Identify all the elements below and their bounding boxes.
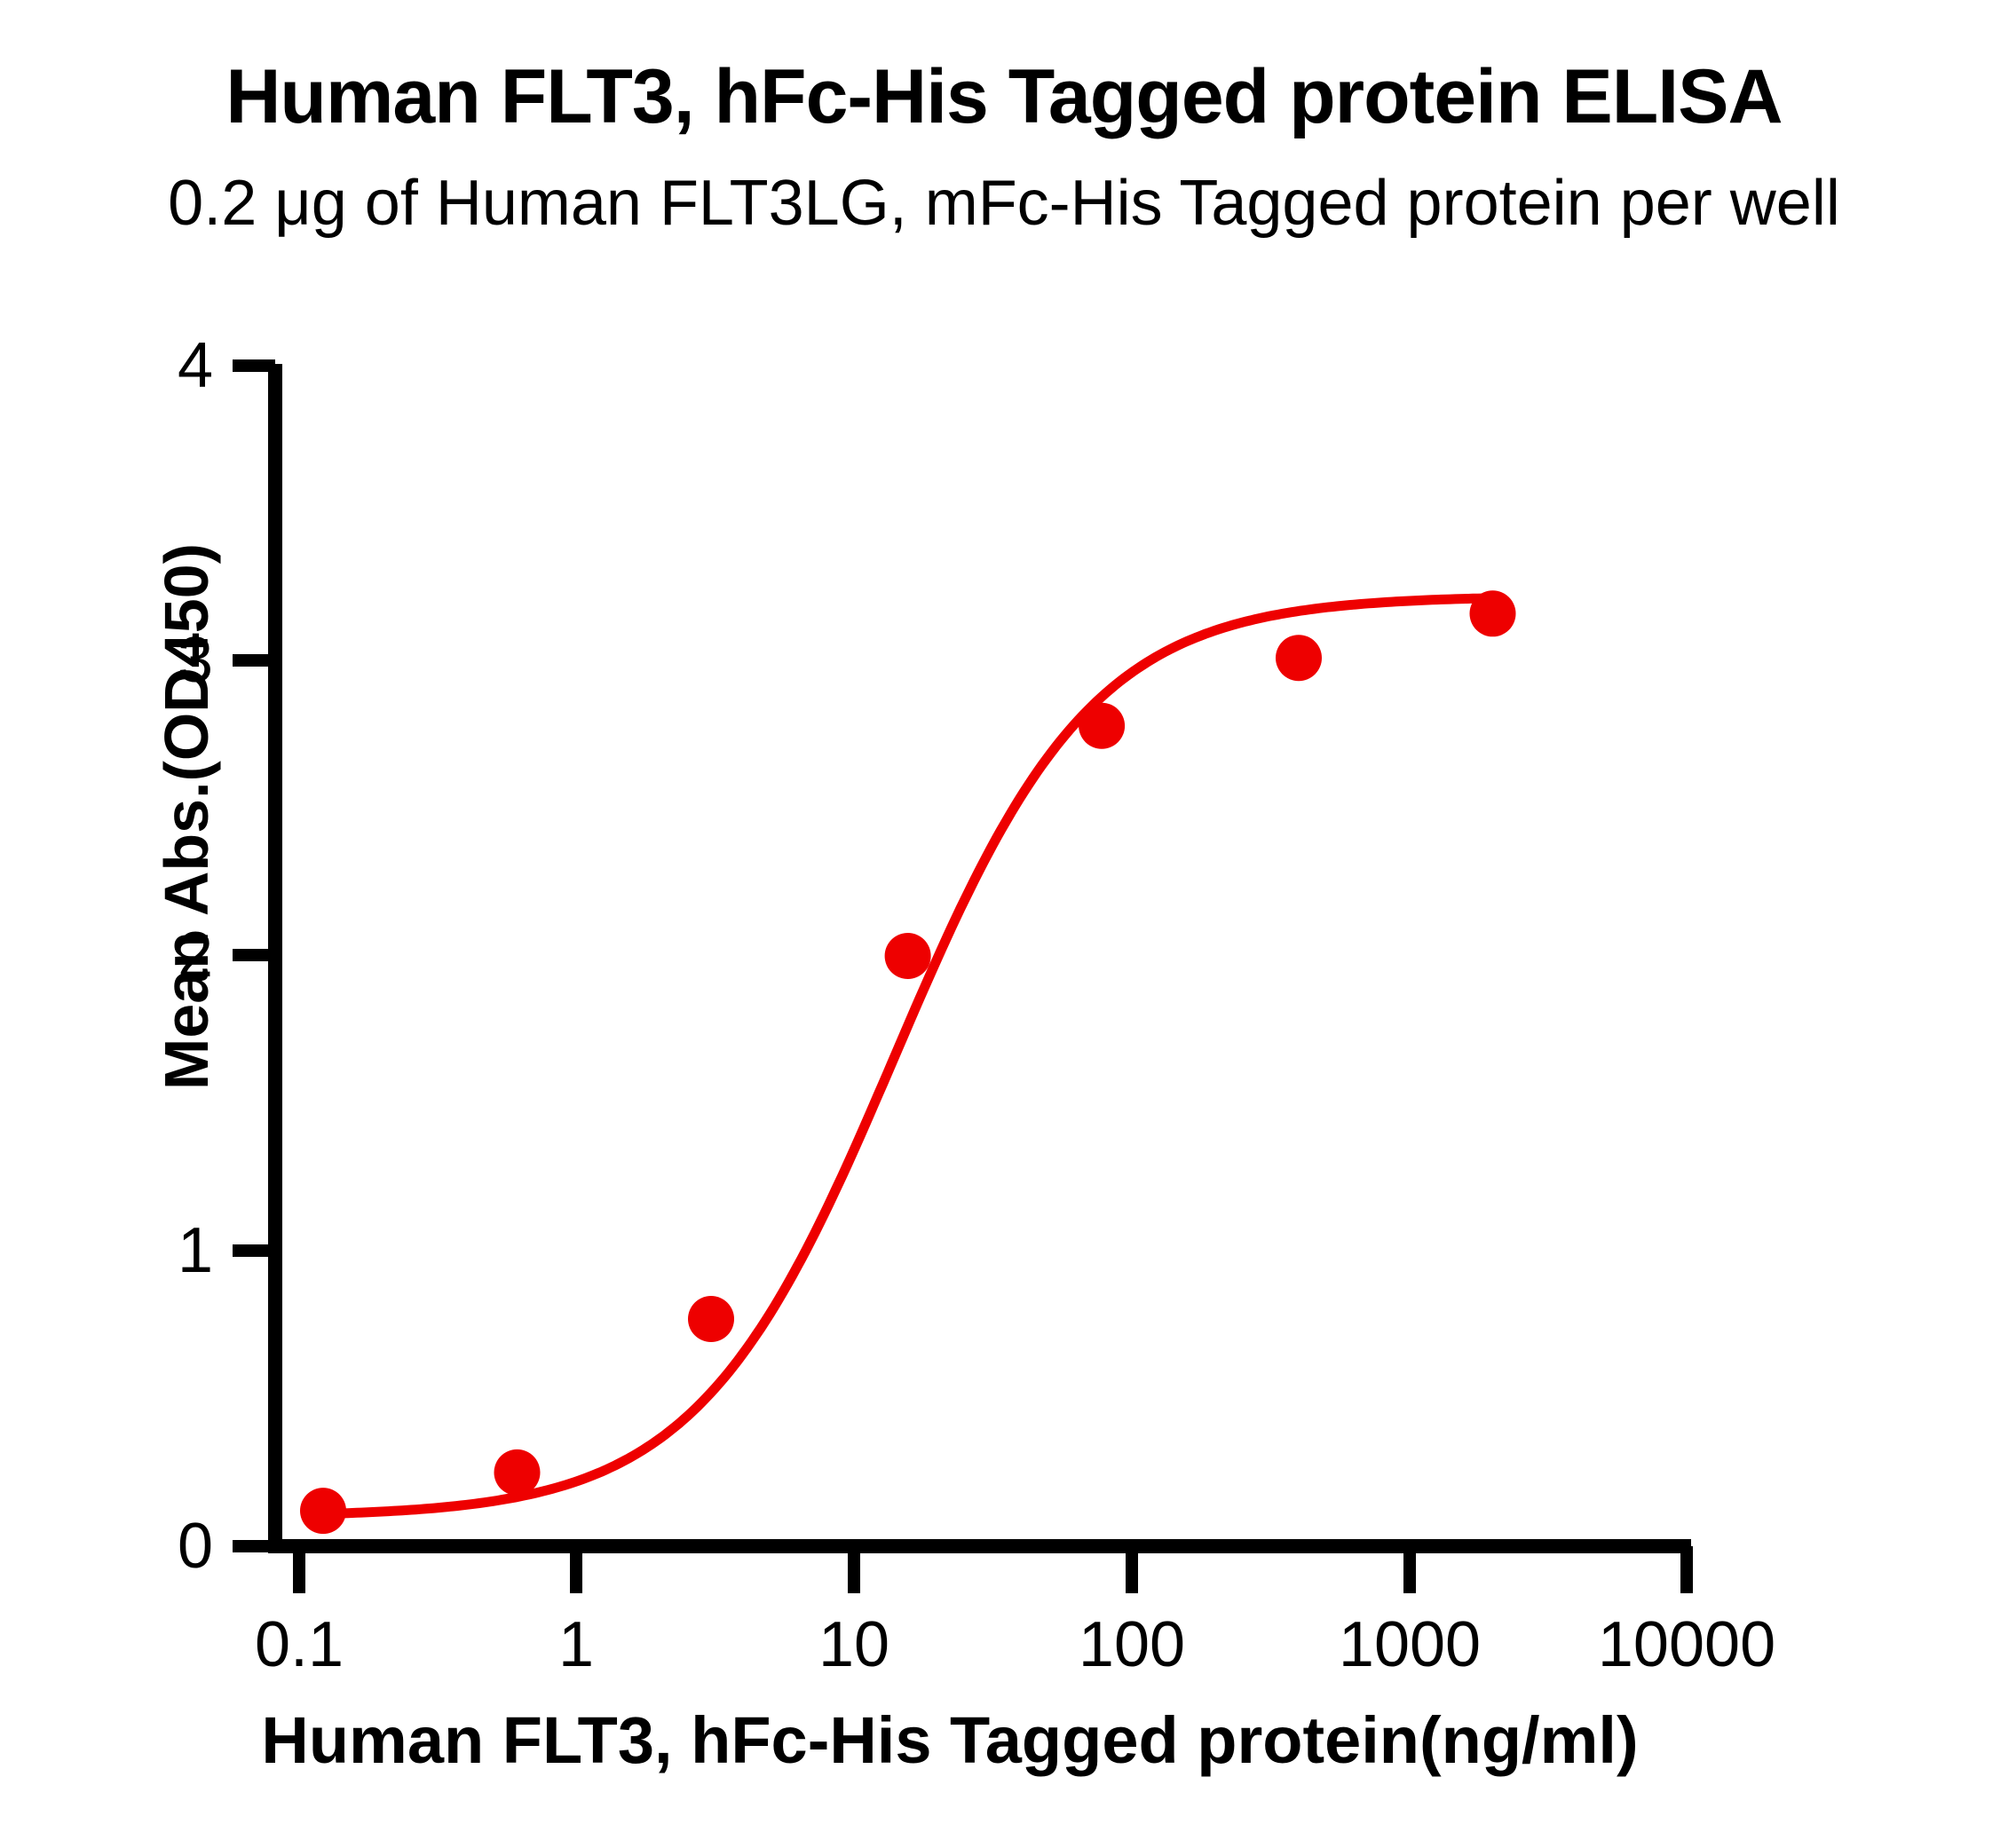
y-tick-label-3: 3 xyxy=(107,624,213,697)
data-point xyxy=(300,1488,346,1534)
y-tick-label-4: 4 xyxy=(107,329,213,402)
data-point-group xyxy=(300,590,1516,1534)
x-tick-label-5: 10000 xyxy=(1598,1608,1775,1681)
chart-page: Human FLT3, hFc-His Tagged protein ELISA… xyxy=(0,0,2008,1848)
x-tick-label-1: 1 xyxy=(558,1608,594,1681)
x-tick-label-4: 1000 xyxy=(1339,1608,1481,1681)
x-tick-label-3: 100 xyxy=(1079,1608,1185,1681)
fit-curve xyxy=(316,598,1496,1514)
data-point xyxy=(688,1296,734,1342)
x-tick-label-2: 10 xyxy=(818,1608,889,1681)
y-tick-label-0: 0 xyxy=(107,1510,213,1583)
data-point xyxy=(885,933,931,979)
data-point xyxy=(1470,590,1516,636)
y-tick-label-2: 2 xyxy=(107,919,213,991)
data-point xyxy=(494,1449,541,1496)
data-point xyxy=(1276,635,1322,681)
y-tick-label-1: 1 xyxy=(107,1214,213,1287)
data-point xyxy=(1079,703,1125,749)
x-tick-label-0: 0.1 xyxy=(255,1608,344,1681)
y-axis-title: Mean Abs.(OD450) xyxy=(151,417,222,1216)
x-axis-title: Human FLT3, hFc-His Tagged protein(ng/ml… xyxy=(107,1702,1793,1778)
plot-svg xyxy=(0,0,2008,1848)
plot-area: Mean Abs.(OD450) Human FLT3, hFc-His Tag… xyxy=(0,0,2008,1848)
